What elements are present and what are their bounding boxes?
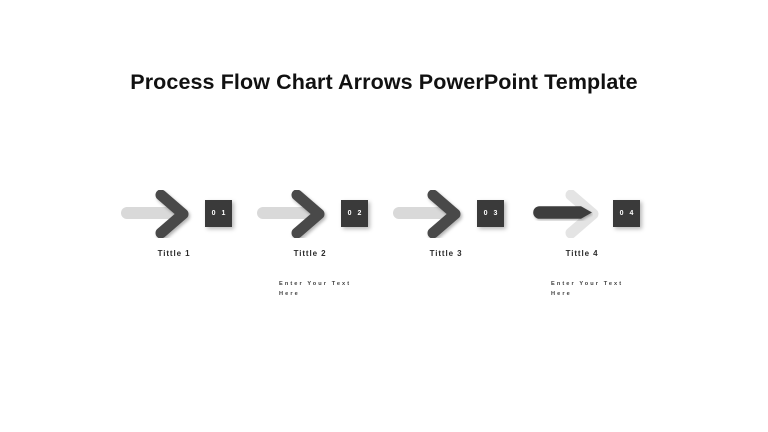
- process-step-1[interactable]: 0 1 Tittle 1: [115, 186, 250, 316]
- process-flow-diagram: 0 1 Tittle 1 0 2 Tit: [115, 186, 660, 316]
- process-step-2[interactable]: 0 2 Tittle 2 Enter Your Text Here: [251, 186, 386, 316]
- step-body-text: Enter Your Text Here: [551, 279, 637, 300]
- right-arrow-icon: 0 4: [523, 186, 658, 242]
- step-title-label: Tittle 1: [115, 249, 233, 258]
- arrow-chevron-head: [153, 190, 199, 238]
- arrow-chevron-head: [289, 190, 335, 238]
- step-number-badge: 0 2: [341, 200, 368, 227]
- step-title-label: Tittle 2: [251, 249, 369, 258]
- process-step-4[interactable]: 0 4 Tittle 4 Enter Your Text Here: [523, 186, 658, 316]
- step-number-text: 0 2: [346, 210, 364, 217]
- right-arrow-icon: 0 3: [387, 186, 522, 242]
- step-title-label: Tittle 4: [523, 249, 641, 258]
- step-body-text: Enter Your Text Here: [279, 279, 365, 300]
- step-number-badge: 0 3: [477, 200, 504, 227]
- right-arrow-icon: 0 2: [251, 186, 386, 242]
- right-arrow-icon: 0 1: [115, 186, 250, 242]
- page-title: Process Flow Chart Arrows PowerPoint Tem…: [0, 70, 768, 95]
- step-number-text: 0 1: [210, 210, 228, 217]
- arrow-chevron-head: [425, 190, 471, 238]
- step-number-badge: 0 4: [613, 200, 640, 227]
- step-number-badge: 0 1: [205, 200, 232, 227]
- step-number-text: 0 4: [618, 210, 636, 217]
- arrow-shaft: [531, 204, 593, 221]
- step-title-label: Tittle 3: [387, 249, 505, 258]
- step-number-text: 0 3: [482, 210, 500, 217]
- process-step-3[interactable]: 0 3 Tittle 3: [387, 186, 522, 316]
